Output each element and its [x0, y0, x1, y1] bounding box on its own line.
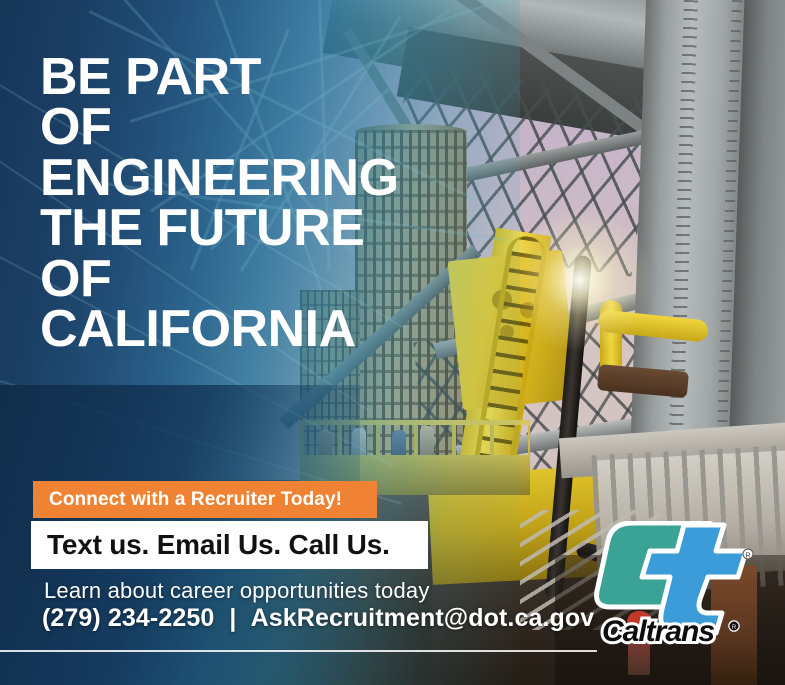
- caltrans-recruitment-ad: BE PART OF ENGINEERING THE FUTURE OF CAL…: [0, 0, 785, 685]
- headline-line-1: BE PART: [40, 52, 510, 102]
- phone-number[interactable]: (279) 234-2250: [42, 604, 214, 632]
- registered-mark-icon: R: [743, 549, 753, 560]
- contact-line: (279) 234-2250 | AskRecruitment@dot.ca.g…: [42, 604, 594, 633]
- learn-more-text: Learn about career opportunities today: [44, 578, 430, 604]
- recruiter-cta-bar[interactable]: Connect with a Recruiter Today!: [33, 481, 377, 518]
- svg-text:R: R: [732, 625, 737, 631]
- svg-text:Caltrans: Caltrans: [602, 615, 714, 646]
- footer-divider: [0, 650, 597, 652]
- contact-separator: |: [221, 604, 244, 632]
- contact-channels-box[interactable]: Text us. Email Us. Call Us.: [31, 521, 428, 569]
- headline-line-5: OF: [40, 254, 510, 304]
- contact-channels-label: Text us. Email Us. Call Us.: [47, 529, 390, 561]
- headline-line-6: CALIFORNIA: [40, 304, 510, 354]
- page-title: BE PART OF ENGINEERING THE FUTURE OF CAL…: [40, 52, 510, 355]
- svg-text:R: R: [745, 553, 750, 560]
- caltrans-logo[interactable]: R Caltrans R: [588, 521, 758, 646]
- headline-line-3: ENGINEERING: [40, 153, 510, 203]
- recruiter-cta-label: Connect with a Recruiter Today!: [49, 489, 342, 511]
- headline-line-2: OF: [40, 102, 510, 152]
- email-address[interactable]: AskRecruitment@dot.ca.gov: [251, 604, 595, 632]
- headline-line-4: THE FUTURE: [40, 203, 510, 253]
